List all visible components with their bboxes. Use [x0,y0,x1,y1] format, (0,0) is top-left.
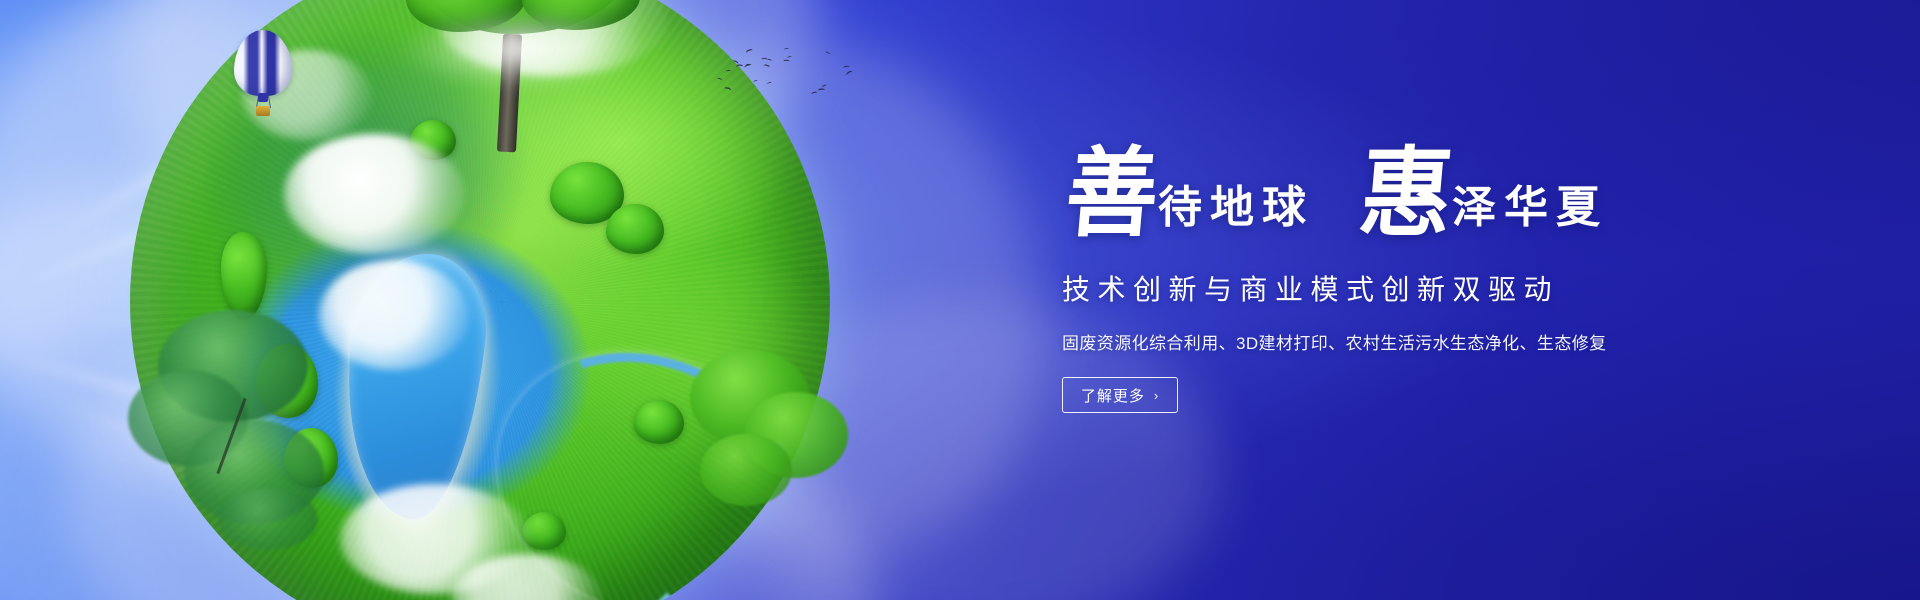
bird-icon [763,64,770,69]
bird-icon [726,69,731,73]
headline-accent-char-1: 善 [1062,144,1163,242]
tree-clump [606,204,664,254]
bird-icon [811,91,818,96]
hot-air-balloon-icon [234,30,292,122]
bird-icon [745,63,751,67]
bird-icon [784,48,789,51]
bird-icon [767,81,772,85]
bird-icon [783,59,789,63]
tree-on-globe [404,0,634,148]
cloud-puff [319,260,469,370]
headline-accent-char-2: 惠 [1356,144,1457,242]
cloud-puff [284,134,464,254]
learn-more-button[interactable]: 了解更多 › [1062,377,1178,413]
bird-icon [745,48,753,55]
headline-rest-1: 待地球 [1158,186,1314,230]
headline-rest-2: 泽华夏 [1452,186,1608,230]
page-description: 固废资源化综合利用、3D建材打印、农村生活污水生态净化、生态修复 [1062,329,1562,354]
bird-icon [843,65,850,69]
bird-icon [723,87,731,93]
bird-icon [717,77,723,82]
silhouette-tree-left [118,300,328,530]
chevron-right-icon: › [1154,388,1159,403]
bird-flock-icon [712,48,862,98]
headline-group-1: 善 待地球 [1062,150,1314,242]
bird-icon [736,64,743,69]
bush-cluster-right [680,330,870,520]
bird-icon [825,51,831,56]
page-title: 善 待地球 惠 泽华夏 [1062,146,1562,242]
tree-clump [634,400,684,444]
headline-group-2: 惠 泽华夏 [1356,150,1608,242]
hero-banner: 善 待地球 惠 泽华夏 技术创新与商业模式创新双驱动 固废资源化综合利用、3D建… [0,0,1920,600]
page-subtitle: 技术创新与商业模式创新双驱动 [1062,268,1562,308]
bird-icon [767,58,773,62]
bird-icon [845,70,853,77]
bird-icon [787,55,792,59]
hero-text-block: 善 待地球 惠 泽华夏 技术创新与商业模式创新双驱动 固废资源化综合利用、3D建… [1062,146,1562,413]
bird-icon [753,80,758,83]
bird-icon [817,88,825,93]
learn-more-label: 了解更多 [1081,385,1145,406]
